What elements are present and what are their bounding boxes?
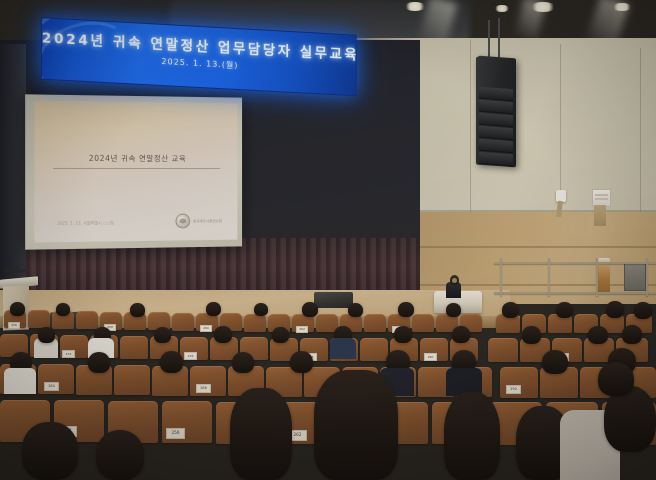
speaker-cell	[479, 113, 513, 127]
seat	[172, 313, 194, 331]
audience-head	[10, 302, 25, 316]
audience-head-foreground	[444, 392, 500, 480]
seat	[412, 314, 434, 332]
audience-head-foreground	[22, 422, 78, 480]
aisle-railing-post	[548, 258, 550, 296]
audience-head	[232, 352, 254, 373]
line-array-speaker	[476, 57, 516, 168]
audience-head	[290, 351, 313, 373]
audience-head	[446, 303, 461, 317]
seat-number-tag: 284	[44, 382, 59, 391]
seat	[76, 311, 98, 329]
seat-number-tag: 276	[184, 352, 197, 360]
seat	[364, 314, 386, 332]
audience-seating: 256 258 260 262 264	[0, 300, 656, 480]
seat	[28, 310, 50, 328]
audience-body	[4, 368, 36, 394]
audience-head-foreground	[230, 388, 292, 480]
wall-panel	[624, 263, 646, 291]
audience-head	[154, 327, 171, 343]
wall-seam	[470, 40, 471, 216]
audience-head	[160, 351, 183, 373]
audience-head	[88, 352, 110, 373]
seat-number-tag: 286	[196, 384, 211, 393]
ceiling-downlight	[494, 5, 510, 12]
audience-head	[634, 302, 652, 319]
audience-head	[394, 326, 412, 343]
audience-head	[56, 303, 70, 316]
cctv-camera-icon	[556, 190, 566, 202]
speaker-cell	[479, 152, 513, 166]
wall-seam	[640, 48, 641, 216]
audience-head	[606, 301, 624, 318]
audience-head	[588, 326, 608, 344]
speaker-cell	[479, 100, 513, 114]
audience-head	[272, 327, 289, 343]
wall-box-vent	[595, 194, 608, 196]
slide-logo-text: 한국세무사회연수원	[193, 218, 222, 223]
audience-head	[130, 303, 145, 317]
presenter-face	[452, 278, 457, 283]
seat-number-tag: 262	[296, 326, 308, 333]
slide-logo: 한국세무사회연수원	[176, 213, 222, 228]
audience-head	[254, 303, 268, 316]
seat-number-tag: 280	[424, 353, 437, 361]
organization-logo-icon	[176, 214, 191, 229]
speaker-cell	[479, 87, 513, 101]
audience-head	[622, 325, 642, 344]
seat-number-tag: 274	[62, 350, 75, 358]
audience-head	[214, 326, 232, 343]
speaker-rigging-wire	[498, 18, 500, 62]
audience-head	[556, 302, 573, 318]
aisle-railing-rail	[494, 292, 656, 294]
audience-head	[38, 327, 55, 343]
audience-head	[598, 362, 634, 396]
seat	[244, 314, 266, 332]
audience-head	[542, 350, 568, 374]
audience-head	[522, 326, 541, 344]
seat	[114, 365, 150, 395]
projection-screen: 2024년 귀속 연말정산 교육 2025. 1. 13. 서울특별시 ○○청 …	[34, 101, 237, 243]
audience-body	[330, 338, 356, 359]
slide-title: 2024년 귀속 연말정산 교육	[34, 153, 237, 165]
audience-head	[398, 302, 414, 317]
seat	[360, 338, 388, 361]
stage-side-pillar	[0, 44, 26, 284]
aisle-railing-post	[646, 258, 648, 296]
speaker-cell	[479, 139, 513, 153]
aisle-railing-post	[500, 258, 502, 296]
seat-number-tag: 256	[166, 428, 185, 439]
seat	[120, 336, 148, 359]
audience-head	[502, 302, 519, 318]
auditorium-photo: 2024년 귀속 연말정산 교육 2025. 1. 13. 서울특별시 ○○청 …	[0, 0, 656, 480]
audience-head	[302, 302, 318, 317]
audience-head	[206, 302, 221, 316]
slide-footer-text: 2025. 1. 13. 서울특별시 ○○청	[57, 220, 114, 227]
audience-head-foreground	[314, 370, 398, 480]
wall-trim-line	[410, 246, 656, 248]
seat-number-tag: 290	[506, 385, 521, 394]
aisle-railing-rail	[494, 262, 656, 264]
speaker-cell	[479, 126, 513, 140]
wall-box-mount	[594, 205, 606, 226]
seat-number-tag: 260	[200, 325, 212, 332]
ceiling-downlight	[404, 2, 426, 11]
aisle-railing-post	[596, 258, 598, 296]
audience-head-foreground	[96, 430, 144, 480]
audience-head	[452, 326, 470, 343]
seat	[488, 338, 518, 362]
audience-head	[348, 303, 363, 317]
slide-divider	[53, 168, 220, 169]
seat-number-tag: 256	[8, 322, 20, 329]
